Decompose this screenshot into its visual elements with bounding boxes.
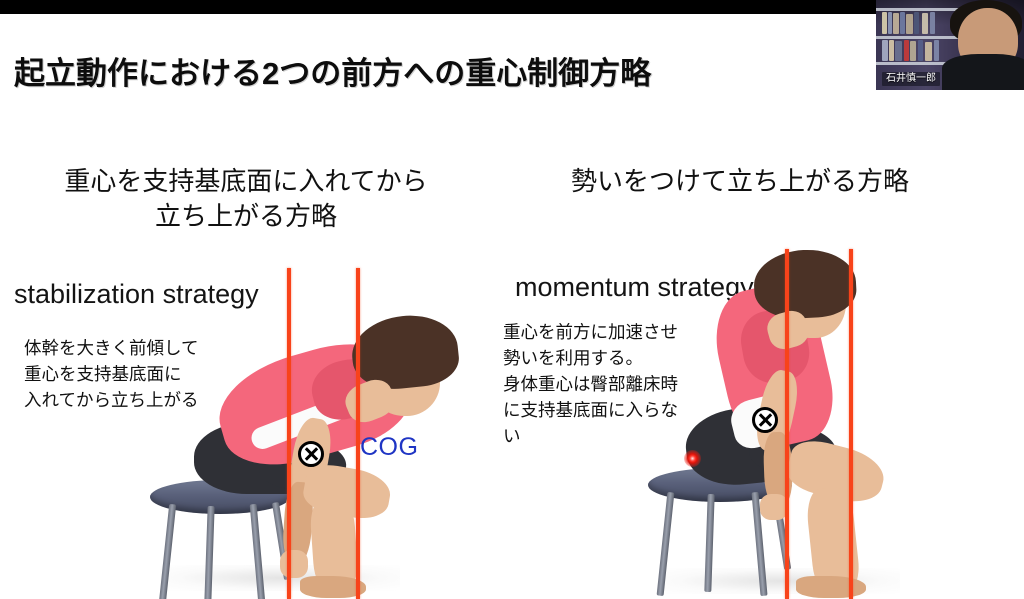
hand xyxy=(280,550,308,578)
column-heading-stabilization: 重心を支持基底面に入れてから 立ち上がる方略 xyxy=(36,164,456,233)
presenter-name-label: 石井慎一郎 xyxy=(882,72,940,87)
hair xyxy=(752,247,857,320)
book xyxy=(904,40,909,61)
book xyxy=(922,13,928,34)
stool-leg xyxy=(250,504,266,599)
stool-leg xyxy=(204,506,214,599)
reference-line-right-anterior xyxy=(849,249,853,599)
photo-momentum xyxy=(630,250,960,599)
stool-leg xyxy=(159,504,176,599)
book xyxy=(914,12,919,34)
column-heading-momentum: 勢いをつけて立ち上がる方略 xyxy=(530,164,950,199)
slide-screen: 起立動作における2つの前方への重心制御方略 重心を支持基底面に入れてから 立ち上… xyxy=(0,0,1024,599)
foot xyxy=(796,576,866,598)
hand xyxy=(760,494,788,520)
book xyxy=(893,13,899,34)
cog-marker-momentum xyxy=(752,407,778,433)
book xyxy=(925,42,932,61)
cog-marker-stabilization xyxy=(298,441,324,467)
book xyxy=(895,41,902,61)
book xyxy=(889,40,894,61)
book xyxy=(910,41,916,61)
book xyxy=(930,12,935,34)
book xyxy=(906,14,913,34)
stool-left xyxy=(150,480,290,599)
cog-label: COG xyxy=(360,433,418,462)
book xyxy=(882,12,887,34)
reference-line-right-posterior xyxy=(785,249,789,599)
page-title: 起立動作における2つの前方への重心制御方略 xyxy=(14,48,651,93)
book xyxy=(900,12,905,34)
book xyxy=(934,40,939,61)
stool-leg xyxy=(704,494,714,592)
reference-line-left-posterior xyxy=(287,268,291,599)
book xyxy=(918,40,923,61)
book xyxy=(882,40,888,61)
webcam-overlay[interactable]: 石井慎一郎 xyxy=(876,0,1024,90)
top-letterbox-bar xyxy=(0,0,876,14)
stool-leg xyxy=(657,492,675,596)
presenter-body xyxy=(942,54,1024,90)
laser-pointer-dot xyxy=(684,450,701,467)
book xyxy=(888,12,892,34)
